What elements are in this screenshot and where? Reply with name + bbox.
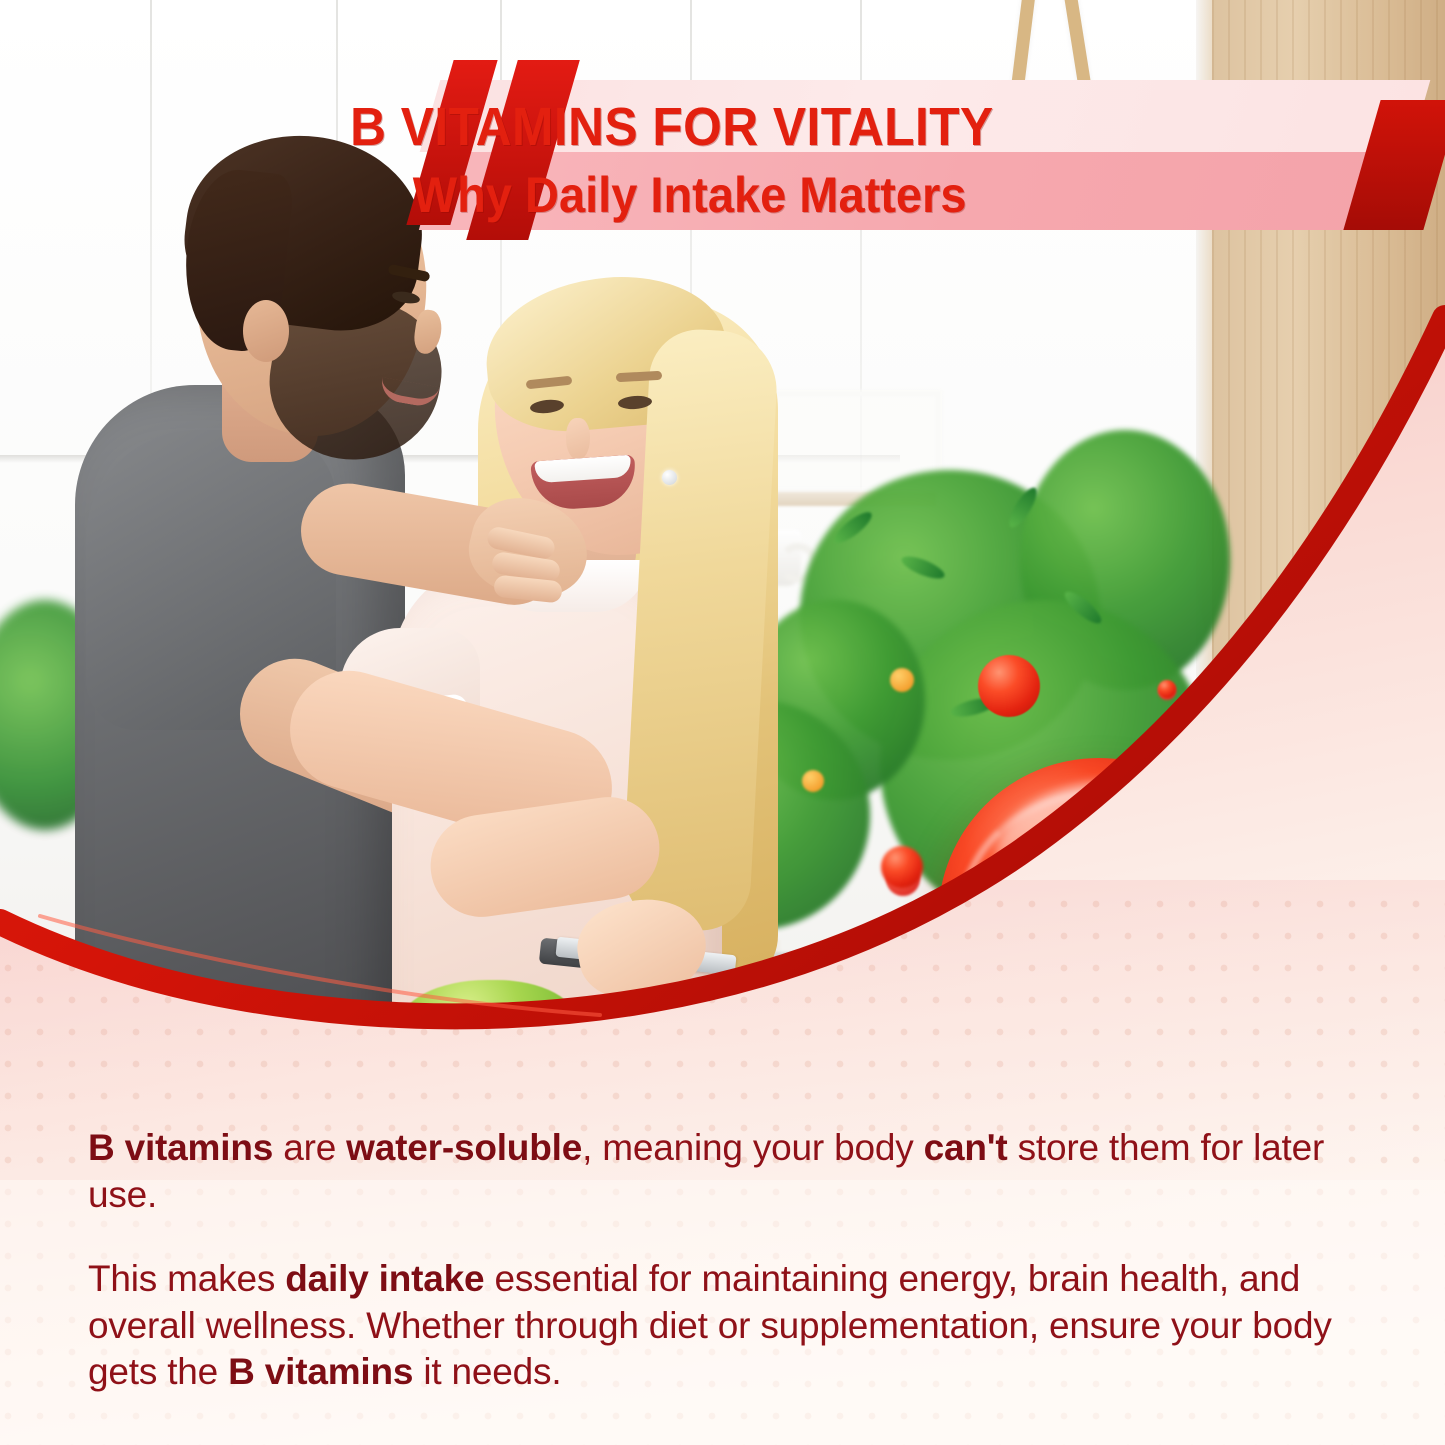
mini-orb	[1178, 1012, 1264, 1098]
banner-band-light	[420, 80, 1431, 152]
emphasis-cant: can't	[924, 1127, 1008, 1168]
emphasis-daily-intake: daily intake	[285, 1258, 484, 1299]
header-banner: B VITAMINS FOR VITALITY Why Daily Intake…	[0, 0, 1445, 300]
copy-text: , meaning your body	[582, 1127, 924, 1168]
copy-text: it needs.	[413, 1351, 561, 1392]
banner-band-dark	[419, 152, 1421, 230]
body-copy: B vitamins are water-soluble, meaning yo…	[88, 1125, 1373, 1396]
paragraph-1: B vitamins are water-soluble, meaning yo…	[88, 1125, 1373, 1218]
emphasis-water-soluble: water-soluble	[346, 1127, 582, 1168]
mini-orb	[881, 846, 923, 888]
mini-orb	[978, 655, 1040, 717]
emphasis-b-vitamins-2: B vitamins	[228, 1351, 413, 1392]
copy-text: are	[273, 1127, 346, 1168]
poster-root: B	[0, 0, 1445, 1445]
paragraph-2: This makes daily intake essential for ma…	[88, 1256, 1373, 1396]
mini-orb	[926, 1005, 1000, 1079]
emphasis-b-vitamins: B vitamins	[88, 1127, 273, 1168]
mini-orb	[1158, 680, 1176, 698]
mini-orb	[1320, 874, 1344, 898]
copy-text: This makes	[88, 1258, 285, 1299]
